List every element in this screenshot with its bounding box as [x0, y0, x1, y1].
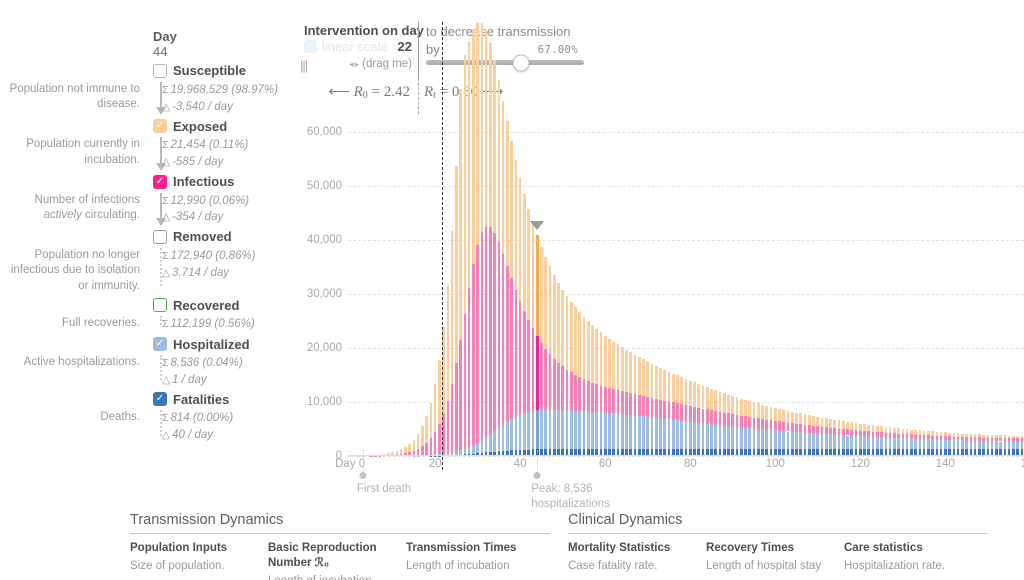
- bar-day-99[interactable]: [770, 407, 773, 456]
- bar-segment-exposed: [816, 417, 819, 427]
- bar-day-79[interactable]: [685, 379, 688, 456]
- bar-segment-infectious: [727, 413, 730, 426]
- bar-segment-exposed: [880, 426, 883, 432]
- bar-segment-exposed: [651, 364, 654, 398]
- bar-day-143[interactable]: [957, 433, 960, 456]
- bar-segment-exposed: [987, 435, 990, 438]
- bar-segment-exposed: [702, 386, 705, 409]
- checkbox-fatalities[interactable]: ✓: [153, 392, 167, 406]
- bar-day-62[interactable]: [612, 342, 615, 456]
- bar-day-87[interactable]: [719, 392, 722, 456]
- bar-segment-infectious: [714, 411, 717, 425]
- compartment-stats: Σ21,454 (0.11%)△-585 / day: [148, 137, 248, 170]
- column-description: Length of incubation: [268, 574, 406, 580]
- bar-day-17[interactable]: [421, 426, 424, 456]
- bar-day-138[interactable]: [936, 432, 939, 456]
- bar-day-49[interactable]: [557, 283, 560, 456]
- bar-segment-hospitalized: [919, 439, 922, 449]
- bar-day-101[interactable]: [778, 409, 781, 456]
- bar-segment-hospitalized: [468, 447, 471, 454]
- bar-day-39[interactable]: [515, 160, 518, 456]
- bar-day-142[interactable]: [953, 433, 956, 456]
- bar-day-61[interactable]: [608, 339, 611, 456]
- bar-segment-infectious: [748, 417, 751, 428]
- bar-segment-infectious: [965, 437, 968, 441]
- bar-day-25[interactable]: [455, 166, 458, 456]
- bar-segment-exposed: [425, 416, 428, 443]
- bar-day-122[interactable]: [867, 425, 870, 456]
- bar-day-70[interactable]: [646, 361, 649, 456]
- bar-day-72[interactable]: [655, 366, 658, 456]
- bar-day-21[interactable]: [438, 360, 441, 456]
- bar-day-60[interactable]: [604, 336, 607, 456]
- epidemic-curve-chart[interactable]: 010,00020,00030,00040,00050,00060,000 Da…: [300, 110, 1024, 510]
- bar-day-50[interactable]: [561, 290, 564, 456]
- bar-day-139[interactable]: [940, 432, 943, 456]
- panel-title: Transmission Dynamics: [130, 512, 550, 534]
- bar-day-44[interactable]: [536, 235, 539, 456]
- x-tick-label: 120: [851, 458, 870, 470]
- x-tick-label: 100: [766, 458, 785, 470]
- bar-day-26[interactable]: [459, 89, 462, 456]
- bar-day-36[interactable]: [502, 101, 505, 457]
- bar-day-75[interactable]: [668, 372, 671, 456]
- bar-day-121[interactable]: [863, 424, 866, 456]
- bar-day-19[interactable]: [430, 403, 433, 456]
- bar-day-53[interactable]: [574, 307, 577, 456]
- compartment-node-hospitalized[interactable]: ✓Hospitalized: [0, 333, 300, 355]
- bar-segment-exposed: [400, 449, 403, 453]
- bar-day-132[interactable]: [910, 430, 913, 456]
- bar-day-97[interactable]: [761, 405, 764, 457]
- drag-hint[interactable]: ◂|||▸ (drag me): [300, 58, 412, 70]
- column-title: Care statistics: [844, 541, 982, 556]
- bar-day-67[interactable]: [634, 355, 637, 456]
- compartment-node-fatalities[interactable]: ✓Fatalities: [0, 388, 300, 410]
- bar-segment-exposed: [485, 31, 488, 227]
- bar-day-64[interactable]: [621, 347, 624, 456]
- bar-segment-hospitalized: [880, 437, 883, 449]
- bar-series[interactable]: [348, 110, 1024, 456]
- bar-day-152[interactable]: [995, 435, 998, 456]
- bar-segment-hospitalized: [885, 437, 888, 448]
- bar-segment-exposed: [859, 424, 862, 431]
- bar-segment-hospitalized: [719, 425, 722, 449]
- x-tick-label: Day 0: [335, 458, 365, 470]
- bar-day-108[interactable]: [808, 415, 811, 456]
- bar-segment-hospitalized: [902, 438, 905, 449]
- bar-segment-infectious: [638, 395, 641, 416]
- bar-segment-hospitalized: [833, 435, 836, 449]
- bar-day-94[interactable]: [748, 401, 751, 456]
- bar-day-30[interactable]: [476, 23, 479, 456]
- bar-day-16[interactable]: [417, 434, 420, 456]
- bar-segment-exposed: [570, 302, 573, 373]
- bar-day-104[interactable]: [791, 412, 794, 456]
- bar-day-128[interactable]: [893, 428, 896, 456]
- bar-day-116[interactable]: [842, 421, 845, 456]
- bar-segment-infectious: [893, 433, 896, 438]
- bar-segment-hospitalized: [812, 433, 815, 448]
- bar-day-63[interactable]: [617, 344, 620, 456]
- bar-day-154[interactable]: [1004, 435, 1007, 456]
- bar-segment-hospitalized: [723, 426, 726, 449]
- bar-day-95[interactable]: [753, 402, 756, 456]
- bar-segment-exposed: [1008, 436, 1011, 438]
- bar-segment-exposed: [897, 428, 900, 433]
- bar-day-77[interactable]: [676, 375, 679, 456]
- bar-segment-infectious: [710, 410, 713, 424]
- bar-segment-infectious: [672, 402, 675, 419]
- panel-column-basic-reproduction-number-[interactable]: Basic Reproduction Number ℛ₀Length of in…: [268, 541, 406, 580]
- bar-segment-hospitalized: [978, 441, 981, 449]
- compartment-total: Σ19,968,529 (98.97%): [162, 82, 278, 99]
- bar-day-147[interactable]: [974, 434, 977, 456]
- bar-day-55[interactable]: [583, 317, 586, 456]
- bar-segment-hospitalized: [957, 440, 960, 449]
- bar-day-41[interactable]: [523, 194, 526, 456]
- bar-day-89[interactable]: [727, 395, 730, 456]
- bar-day-148[interactable]: [978, 434, 981, 456]
- x-tick-label: 60: [599, 458, 612, 470]
- bar-segment-exposed: [902, 429, 905, 434]
- bar-segment-hospitalized: [748, 428, 751, 449]
- bar-day-24[interactable]: [451, 231, 454, 456]
- bar-day-126[interactable]: [885, 427, 888, 456]
- bar-segment-hospitalized: [770, 430, 773, 449]
- x-axis-line: [348, 455, 1024, 456]
- bar-day-93[interactable]: [744, 400, 747, 456]
- bar-day-80[interactable]: [689, 381, 692, 456]
- checkbox-removed[interactable]: [153, 230, 167, 244]
- bar-day-130[interactable]: [902, 429, 905, 456]
- bar-segment-infectious: [455, 363, 458, 451]
- transmission-reduction-slider[interactable]: 67.00%: [426, 60, 584, 65]
- bar-day-144[interactable]: [961, 434, 964, 456]
- bar-segment-infectious: [527, 320, 530, 412]
- bar-segment-infectious: [825, 427, 828, 434]
- bar-segment-hospitalized: [642, 416, 645, 448]
- bar-day-102[interactable]: [782, 410, 785, 456]
- bar-segment-infectious: [863, 431, 866, 436]
- bar-segment-infectious: [634, 394, 637, 415]
- panel-column-mortality-statistics[interactable]: Mortality StatisticsCase fatality rate.: [568, 541, 706, 574]
- bar-day-65[interactable]: [625, 350, 628, 456]
- bar-segment-infectious: [680, 404, 683, 421]
- bar-segment-infectious: [808, 425, 811, 433]
- r0-arrow: ⟵: [328, 84, 350, 100]
- bar-day-135[interactable]: [923, 431, 926, 456]
- checkbox-hospitalized[interactable]: ✓: [153, 337, 167, 351]
- bar-day-29[interactable]: [472, 29, 475, 456]
- bar-day-125[interactable]: [880, 426, 883, 456]
- bar-day-157[interactable]: [1016, 436, 1019, 456]
- bar-day-92[interactable]: [740, 399, 743, 456]
- bar-day-59[interactable]: [600, 332, 603, 456]
- bar-segment-hospitalized: [702, 423, 705, 449]
- bar-segment-exposed: [795, 413, 798, 424]
- bar-day-103[interactable]: [787, 411, 790, 456]
- bar-day-133[interactable]: [914, 430, 917, 456]
- bar-day-146[interactable]: [970, 434, 973, 456]
- bar-segment-hospitalized: [821, 434, 824, 449]
- checkbox-exposed[interactable]: ✓: [153, 119, 167, 133]
- bar-day-76[interactable]: [672, 374, 675, 456]
- gridline: [348, 456, 1024, 457]
- bar-day-129[interactable]: [897, 428, 900, 456]
- bar-day-90[interactable]: [731, 396, 734, 456]
- compartment-detail-exposed: Population currently in incubation.Σ21,4…: [0, 137, 300, 170]
- bar-day-32[interactable]: [485, 31, 488, 456]
- bar-day-52[interactable]: [570, 302, 573, 456]
- bar-segment-infectious: [651, 398, 654, 417]
- bar-day-110[interactable]: [816, 417, 819, 456]
- bar-day-38[interactable]: [510, 141, 513, 456]
- bar-day-113[interactable]: [829, 419, 832, 456]
- compartment-total: Σ21,454 (0.11%): [162, 137, 248, 154]
- slider-track[interactable]: [426, 60, 584, 65]
- bar-segment-exposed: [668, 372, 671, 402]
- bar-segment-exposed: [396, 451, 399, 454]
- bar-day-140[interactable]: [944, 432, 947, 456]
- checkbox-recovered[interactable]: [153, 298, 167, 312]
- bar-segment-hospitalized: [574, 411, 577, 449]
- bar-day-156[interactable]: [1012, 436, 1015, 456]
- bar-segment-hospitalized: [923, 439, 926, 449]
- bar-segment-hospitalized: [859, 436, 862, 449]
- bar-segment-hospitalized: [464, 449, 467, 454]
- bar-segment-hospitalized: [757, 429, 760, 449]
- bar-segment-hospitalized: [948, 440, 951, 449]
- r0-subscript: 0: [363, 90, 368, 101]
- bar-day-150[interactable]: [987, 435, 990, 456]
- bar-day-73[interactable]: [659, 368, 662, 456]
- bar-segment-exposed: [430, 403, 433, 439]
- bar-day-114[interactable]: [833, 420, 836, 456]
- bar-day-119[interactable]: [855, 423, 858, 456]
- bar-day-28[interactable]: [468, 41, 471, 456]
- bar-day-56[interactable]: [587, 321, 590, 456]
- bar-segment-hospitalized: [549, 410, 552, 449]
- bar-day-51[interactable]: [566, 296, 569, 456]
- bar-day-34[interactable]: [493, 60, 496, 456]
- bar-segment-hospitalized: [506, 422, 509, 451]
- bar-day-111[interactable]: [821, 418, 824, 456]
- bar-day-100[interactable]: [774, 408, 777, 456]
- bar-segment-infectious: [970, 437, 973, 441]
- bar-segment-exposed: [936, 432, 939, 436]
- bar-day-96[interactable]: [757, 403, 760, 456]
- slider-thumb[interactable]: [512, 54, 529, 71]
- bar-day-105[interactable]: [795, 413, 798, 456]
- intervention-divider: [418, 22, 419, 78]
- bar-day-82[interactable]: [697, 384, 700, 456]
- bar-day-109[interactable]: [812, 416, 815, 456]
- panel-column-transmission-times[interactable]: Transmission TimesLength of incubation: [406, 541, 544, 580]
- bar-segment-hospitalized: [608, 413, 611, 449]
- bar-day-66[interactable]: [629, 352, 632, 456]
- annotation-marker-first-death[interactable]: [359, 472, 366, 479]
- bar-day-136[interactable]: [927, 431, 930, 456]
- bar-day-141[interactable]: [948, 433, 951, 456]
- compartment-detail-susceptible: Population not immune to disease.Σ19,968…: [0, 82, 300, 115]
- grip-handle-icon[interactable]: ◂|||▸: [349, 59, 359, 70]
- bar-segment-infectious: [902, 434, 905, 438]
- bar-segment-exposed: [689, 381, 692, 406]
- bar-day-137[interactable]: [931, 431, 934, 456]
- rt-symbol: R: [424, 84, 433, 100]
- bar-segment-exposed: [876, 426, 879, 432]
- bar-segment-infectious: [1004, 438, 1007, 442]
- bar-day-69[interactable]: [642, 359, 645, 456]
- bar-day-43[interactable]: [532, 223, 535, 456]
- bar-segment-hospitalized: [595, 412, 598, 449]
- compartment-node-infectious[interactable]: ✓Infectious: [0, 171, 300, 193]
- bar-day-46[interactable]: [544, 257, 547, 456]
- bar-day-153[interactable]: [999, 435, 1002, 456]
- bar-segment-infectious: [846, 429, 849, 435]
- bar-day-20[interactable]: [434, 384, 437, 456]
- bar-segment-exposed: [493, 60, 496, 233]
- bar-day-45[interactable]: [540, 247, 543, 456]
- bar-day-151[interactable]: [991, 435, 994, 456]
- r0-symbol: R: [354, 84, 363, 100]
- bar-day-127[interactable]: [889, 427, 892, 456]
- bar-segment-exposed: [1016, 436, 1019, 438]
- bar-day-124[interactable]: [876, 426, 879, 456]
- bar-segment-hospitalized: [697, 423, 700, 449]
- bar-day-91[interactable]: [736, 397, 739, 456]
- bar-day-112[interactable]: [825, 418, 828, 456]
- compartment-node-removed[interactable]: Removed: [0, 226, 300, 248]
- bar-day-42[interactable]: [527, 209, 530, 456]
- bar-segment-exposed: [1021, 436, 1024, 438]
- bar-day-88[interactable]: [723, 393, 726, 456]
- bar-segment-infectious: [540, 343, 543, 410]
- bar-segment-infectious: [757, 418, 760, 429]
- bar-day-117[interactable]: [846, 422, 849, 456]
- bar-day-81[interactable]: [693, 382, 696, 456]
- bar-day-115[interactable]: [838, 420, 841, 456]
- bar-day-78[interactable]: [680, 377, 683, 456]
- bar-day-84[interactable]: [706, 387, 709, 456]
- bar-day-54[interactable]: [578, 312, 581, 456]
- bar-segment-hospitalized: [999, 442, 1002, 449]
- bar-day-48[interactable]: [553, 275, 556, 456]
- checkbox-susceptible[interactable]: [153, 64, 167, 78]
- bar-segment-infectious: [991, 438, 994, 442]
- bar-segment-hospitalized: [1008, 442, 1011, 449]
- bar-day-107[interactable]: [804, 414, 807, 456]
- bar-segment-hospitalized: [876, 437, 879, 449]
- bar-day-120[interactable]: [859, 424, 862, 456]
- bar-day-134[interactable]: [919, 430, 922, 456]
- bar-day-57[interactable]: [591, 325, 594, 456]
- bar-day-15[interactable]: [413, 440, 416, 456]
- bar-segment-exposed: [1004, 435, 1007, 438]
- bar-day-68[interactable]: [638, 357, 641, 456]
- bar-segment-hospitalized: [1012, 442, 1015, 449]
- compartment-node-exposed[interactable]: ✓Exposed: [0, 115, 300, 137]
- panel-column-care-statistics[interactable]: Care statisticsHospitalization rate.: [844, 541, 982, 574]
- bar-day-18[interactable]: [425, 416, 428, 456]
- bar-segment-exposed: [413, 440, 416, 451]
- bar-segment-exposed: [965, 434, 968, 437]
- compartment-node-recovered[interactable]: Recovered: [0, 294, 300, 316]
- compartment-node-susceptible[interactable]: Susceptible: [0, 60, 300, 82]
- bar-day-85[interactable]: [710, 389, 713, 456]
- bar-day-118[interactable]: [850, 422, 853, 456]
- bar-segment-hospitalized: [655, 418, 658, 449]
- bar-day-58[interactable]: [595, 329, 598, 456]
- bar-day-131[interactable]: [906, 429, 909, 456]
- bar-day-71[interactable]: [651, 364, 654, 456]
- bar-day-106[interactable]: [799, 413, 802, 456]
- bar-segment-exposed: [957, 433, 960, 436]
- rt-subscript: t: [433, 90, 436, 101]
- bar-segment-hospitalized: [540, 410, 543, 449]
- bar-day-40[interactable]: [519, 178, 522, 456]
- panel-column-population-inputs[interactable]: Population InputsSize of population.: [130, 541, 268, 580]
- bar-day-83[interactable]: [702, 386, 705, 456]
- bar-segment-exposed: [948, 433, 951, 437]
- bar-day-149[interactable]: [982, 435, 985, 456]
- panel-column-recovery-times[interactable]: Recovery TimesLength of hospital stay: [706, 541, 844, 574]
- bar-day-74[interactable]: [663, 370, 666, 456]
- bar-segment-infectious: [434, 432, 437, 454]
- bar-day-27[interactable]: [464, 55, 467, 456]
- bar-day-158[interactable]: [1021, 436, 1024, 456]
- compartment-delta: △-585 / day: [162, 154, 248, 171]
- bar-day-37[interactable]: [506, 121, 509, 456]
- bar-segment-hospitalized: [646, 417, 649, 449]
- bar-segment-exposed: [706, 387, 709, 409]
- bar-day-155[interactable]: [1008, 436, 1011, 456]
- bar-segment-hospitalized: [774, 430, 777, 448]
- bar-day-33[interactable]: [489, 43, 492, 456]
- bar-day-145[interactable]: [965, 434, 968, 456]
- compartment-label: Removed: [173, 229, 232, 244]
- bar-segment-infectious: [489, 227, 492, 434]
- compartment-sidebar: Day 44 SusceptiblePopulation not immune …: [0, 30, 300, 444]
- bar-segment-infectious: [816, 426, 819, 433]
- plot-area[interactable]: [348, 110, 1024, 456]
- bar-segment-hospitalized: [621, 414, 624, 449]
- bar-segment-exposed: [719, 392, 722, 412]
- bar-segment-infectious: [833, 428, 836, 435]
- bar-segment-exposed: [829, 419, 832, 428]
- bar-day-98[interactable]: [765, 406, 768, 456]
- annotation-marker-peak-hospitalizations[interactable]: [534, 472, 541, 479]
- bar-segment-infectious: [532, 328, 535, 410]
- bar-day-47[interactable]: [549, 266, 552, 456]
- bar-segment-infectious: [723, 413, 726, 426]
- bar-segment-exposed: [812, 416, 815, 426]
- bar-day-86[interactable]: [714, 390, 717, 456]
- slider-value-label: 67.00%: [538, 44, 578, 56]
- bar-day-123[interactable]: [872, 425, 875, 456]
- bar-segment-exposed: [451, 231, 454, 383]
- bar-day-23[interactable]: [447, 285, 450, 456]
- bar-segment-exposed: [804, 414, 807, 424]
- bar-segment-infectious: [481, 232, 484, 440]
- bar-day-31[interactable]: [481, 23, 484, 456]
- bar-day-35[interactable]: [498, 80, 501, 456]
- compartment-detail-infectious: Number of infections actively circulatin…: [0, 193, 300, 226]
- checkbox-infectious[interactable]: ✓: [153, 175, 167, 189]
- bar-segment-hospitalized: [476, 443, 479, 453]
- bar-segment-hospitalized: [634, 415, 637, 448]
